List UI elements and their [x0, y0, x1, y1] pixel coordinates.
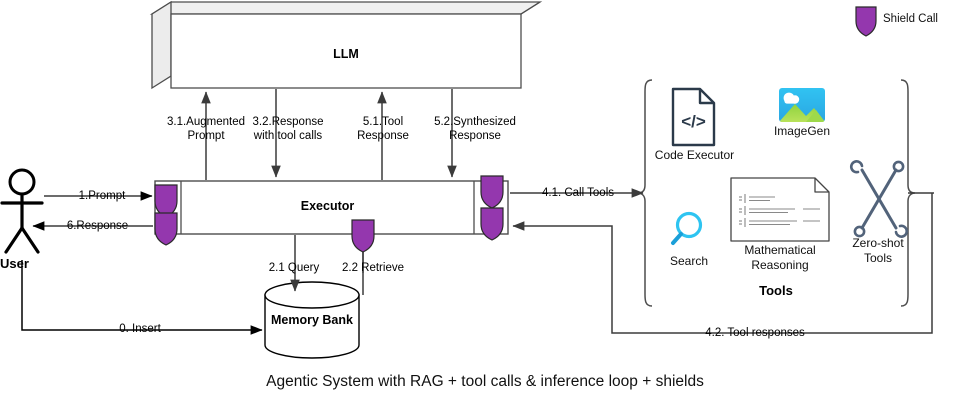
- tool-label-image-gen: ImageGen: [762, 124, 842, 139]
- tool-label-zero-shot-tools: Zero-shot Tools: [841, 236, 915, 266]
- edge-label-3-2-response-with-tool-calls: 3.2.Response with tool calls: [232, 115, 344, 143]
- legend-shield-call-label: Shield Call: [883, 13, 938, 25]
- edge-label-2-1-query: 2.1 Query: [258, 261, 330, 275]
- tool-label-mathematical-reasoning: Mathematical Reasoning: [728, 243, 832, 273]
- edge-0-insert-line: [22, 260, 262, 330]
- formula-document-icon: [731, 178, 829, 241]
- user-stick-figure: [2, 170, 42, 252]
- shield-tool-call: [481, 176, 503, 208]
- edge-label-2-2-retrieve: 2.2 Retrieve: [330, 261, 416, 275]
- edge-label-4-2-tool-responses: 4.2. Tool responses: [660, 326, 850, 340]
- edge-label-0-insert: 0. Insert: [85, 322, 195, 336]
- diagram-canvas: </>: [0, 0, 970, 411]
- shield-legend-icon: [856, 7, 876, 36]
- edge-label-5-1-tool-response: 5.1.Tool Response: [340, 115, 426, 143]
- shield-input-prompt: [155, 185, 177, 217]
- diagram-caption: Agentic System with RAG + tool calls & i…: [0, 373, 970, 391]
- executor-node-label: Executor: [181, 199, 474, 213]
- edge-label-5-2-synthesized-response: 5.2.Synthesized Response: [420, 115, 530, 143]
- magnifier-icon: [673, 214, 701, 244]
- crossed-wrenches-icon: [851, 161, 906, 236]
- image-picture-icon: [779, 88, 825, 122]
- shield-output-response: [155, 213, 177, 245]
- tool-label-search: Search: [656, 254, 722, 269]
- code-document-icon: </>: [673, 89, 714, 145]
- llm-node-shape: [152, 2, 540, 88]
- edge-label-4-1-call-tools: 4.1. Call Tools: [527, 186, 629, 200]
- memory-bank-node-label: Memory Bank: [265, 313, 359, 327]
- shield-memory-retrieve: [352, 220, 374, 252]
- svg-text:</>: </>: [681, 112, 706, 131]
- user-node-label: User: [0, 256, 46, 271]
- edge-label-6-response: 6.Response: [50, 219, 145, 233]
- edge-label-1-prompt: 1.Prompt: [62, 189, 142, 203]
- diagram-vector-layer: </>: [0, 0, 970, 411]
- shield-tool-response: [481, 208, 503, 240]
- llm-node-label: LLM: [171, 47, 521, 61]
- tool-label-code-executor: Code Executor: [645, 148, 744, 163]
- tools-group-label: Tools: [726, 283, 826, 298]
